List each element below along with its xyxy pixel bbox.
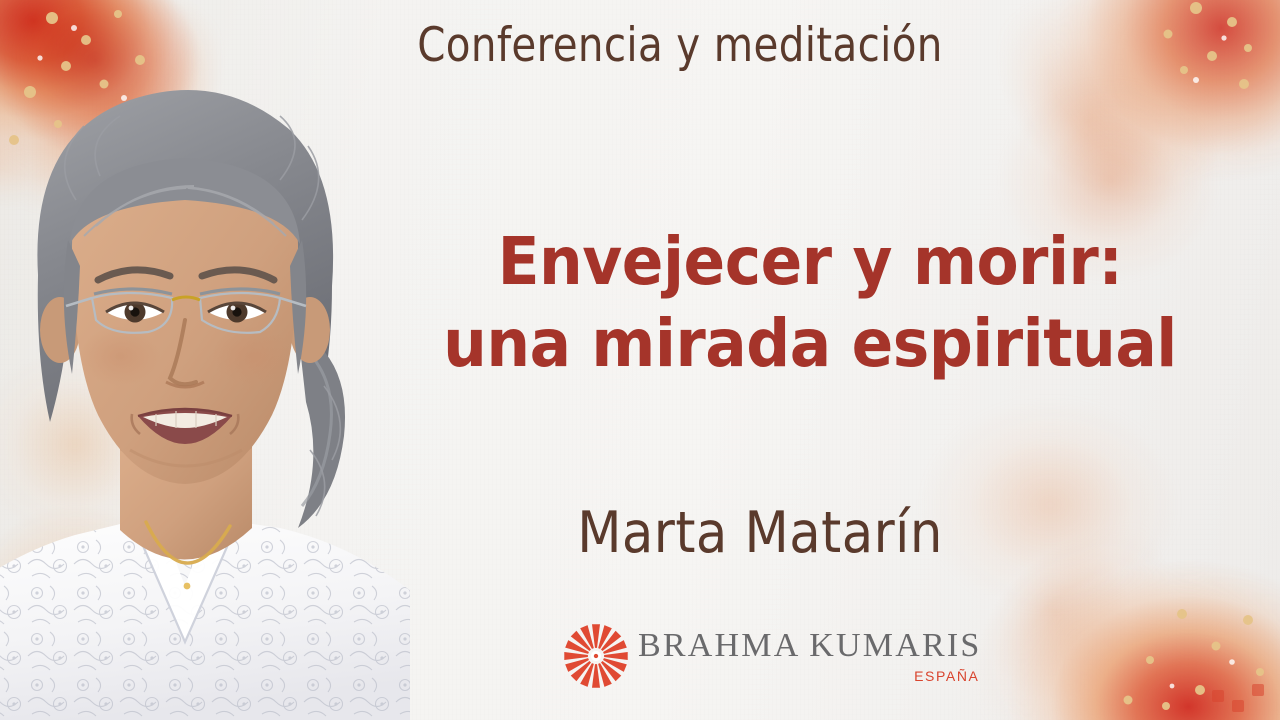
slide-kicker: Conferencia y meditación (379, 18, 981, 73)
title-line-2: una mirada espiritual (392, 310, 1229, 378)
speaker-portrait-illustration (0, 30, 410, 720)
logo-wordmark: BRAHMA KUMARIS (638, 629, 981, 663)
speaker-portrait (0, 30, 410, 720)
title-line-1: Envejecer y morir: (392, 228, 1229, 296)
brahma-kumaris-logo: BRAHMA KUMARIS ESPAÑA (562, 622, 981, 690)
sunburst-icon (562, 622, 630, 690)
logo-country: ESPAÑA (914, 669, 979, 683)
presentation-slide: Conferencia y meditación Envejecer y mor… (0, 0, 1280, 720)
logo-text-block: BRAHMA KUMARIS ESPAÑA (638, 629, 981, 683)
speaker-name: Marta Matarín (400, 500, 1120, 566)
slide-title: Envejecer y morir: una mirada espiritual (360, 228, 1260, 378)
